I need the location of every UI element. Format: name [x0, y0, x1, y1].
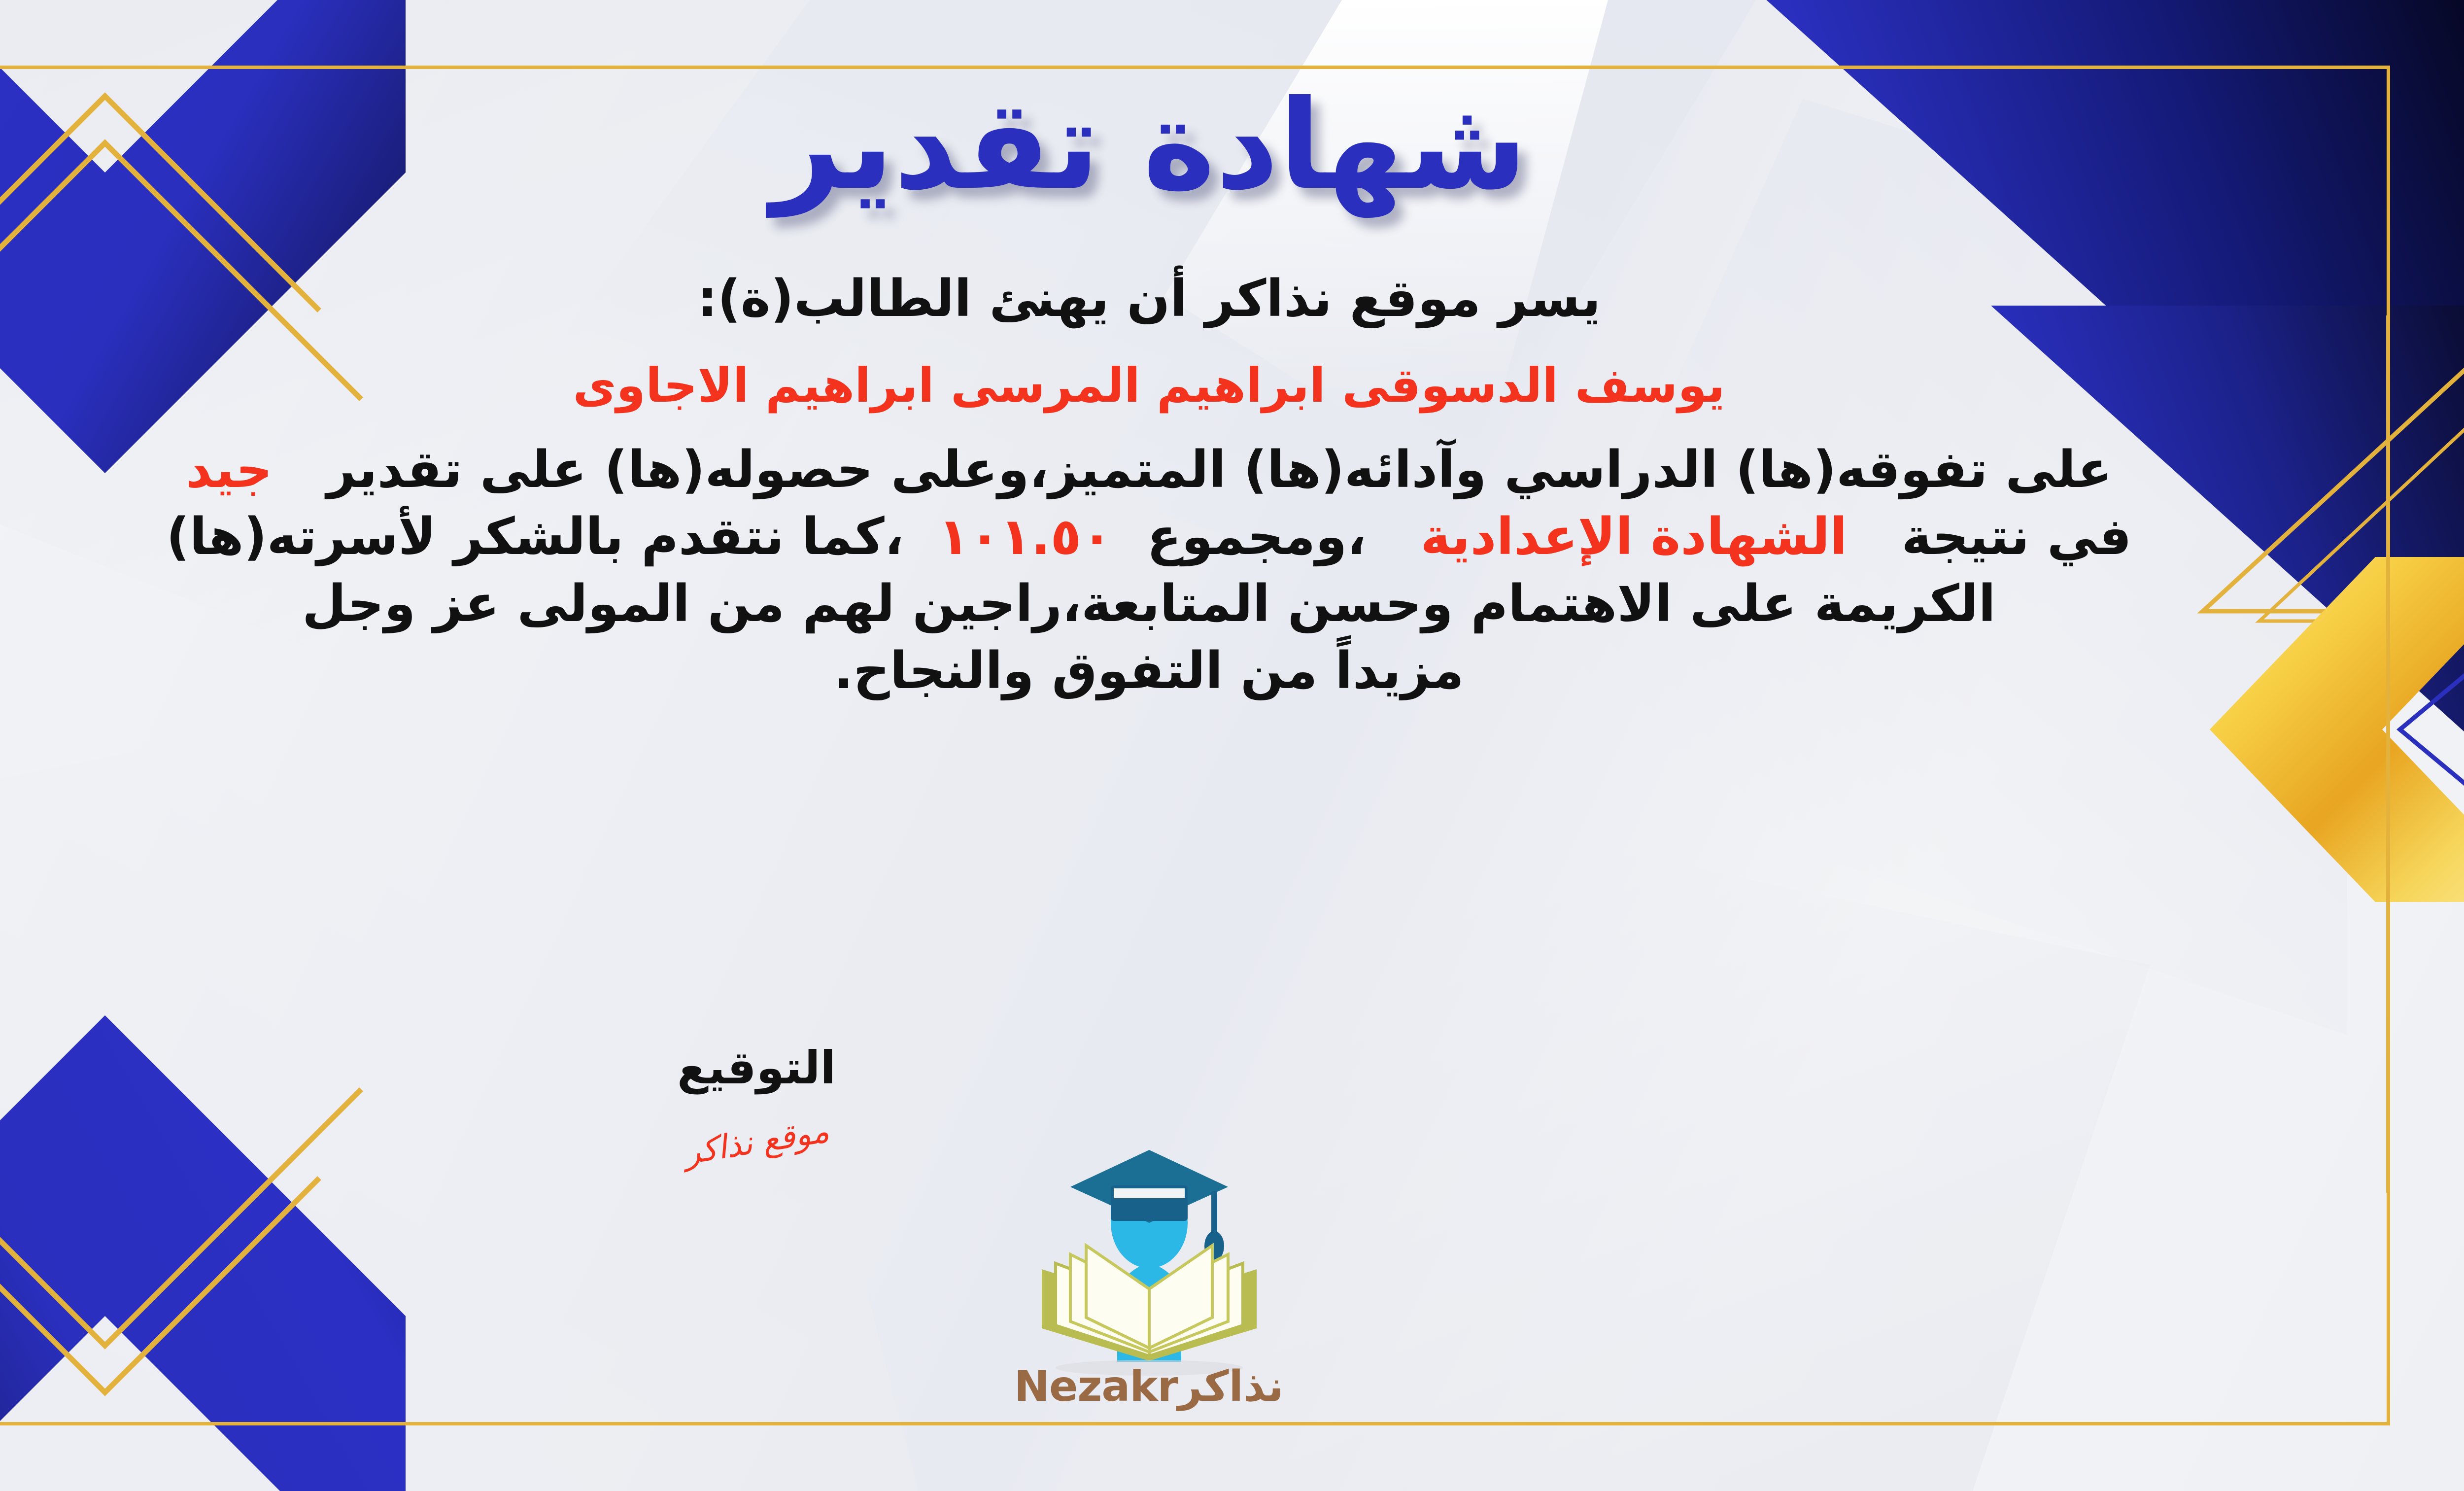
body-line-2-prefix: في نتيجة	[1902, 504, 2132, 571]
body-line-2-mid: ،ومجموع	[1147, 504, 1366, 571]
body-line-4: مزيداً من التفوق والنجاح.	[0, 638, 2390, 705]
certificate-title: شهادة تقدير	[730, 74, 1568, 237]
signature-script: موقع نذاكر	[569, 1094, 945, 1190]
exam-name: الشهادة الإعدادية	[1420, 504, 1847, 571]
body-line-1: على تفوقه(ها) الدراسي وآدائه(ها) المتميز…	[0, 437, 2390, 504]
nezakr-logo	[996, 1125, 1302, 1401]
body-line-3: الكريمة على الاهتمام وحسن المتابعة،راجين…	[0, 571, 2390, 638]
logo-wordmark-arabic: نذاكر	[1178, 1362, 1284, 1411]
body-line-2: في نتيجة الشهادة الإعدادية ،ومجموع ١٠١.٥…	[0, 504, 2390, 571]
intro-line: يسر موقع نذاكر أن يهنئ الطالب(ة):	[0, 266, 2390, 333]
certificate-content: شهادة تقدير يسر موقع نذاكر أن يهنئ الطال…	[0, 66, 2390, 1425]
logo-wordmark: Nezakrنذاكر	[927, 1362, 1371, 1411]
body-paragraph: على تفوقه(ها) الدراسي وآدائه(ها) المتميز…	[0, 437, 2390, 705]
certificate-title-text: شهادة تقدير	[765, 73, 1527, 218]
body-line-1-text: على تفوقه(ها) الدراسي وآدائه(ها) المتميز…	[327, 437, 2112, 504]
signature-label: التوقيع	[569, 1041, 944, 1094]
body-line-2-suffix: ،كما نتقدم بالشكر لأسرته(ها)	[166, 504, 903, 571]
total-score: ١٠١.٥٠	[938, 504, 1112, 571]
grade-value: جيد	[186, 437, 273, 504]
signature-block: التوقيع موقع نذاكر	[569, 1041, 944, 1161]
certificate-canvas: شهادة تقدير يسر موقع نذاكر أن يهنئ الطال…	[0, 0, 2464, 1491]
student-name: يوسف الدسوقى ابراهيم المرسى ابراهيم الاج…	[0, 354, 2390, 417]
logo-wordmark-latin: Nezakr	[1014, 1362, 1178, 1411]
